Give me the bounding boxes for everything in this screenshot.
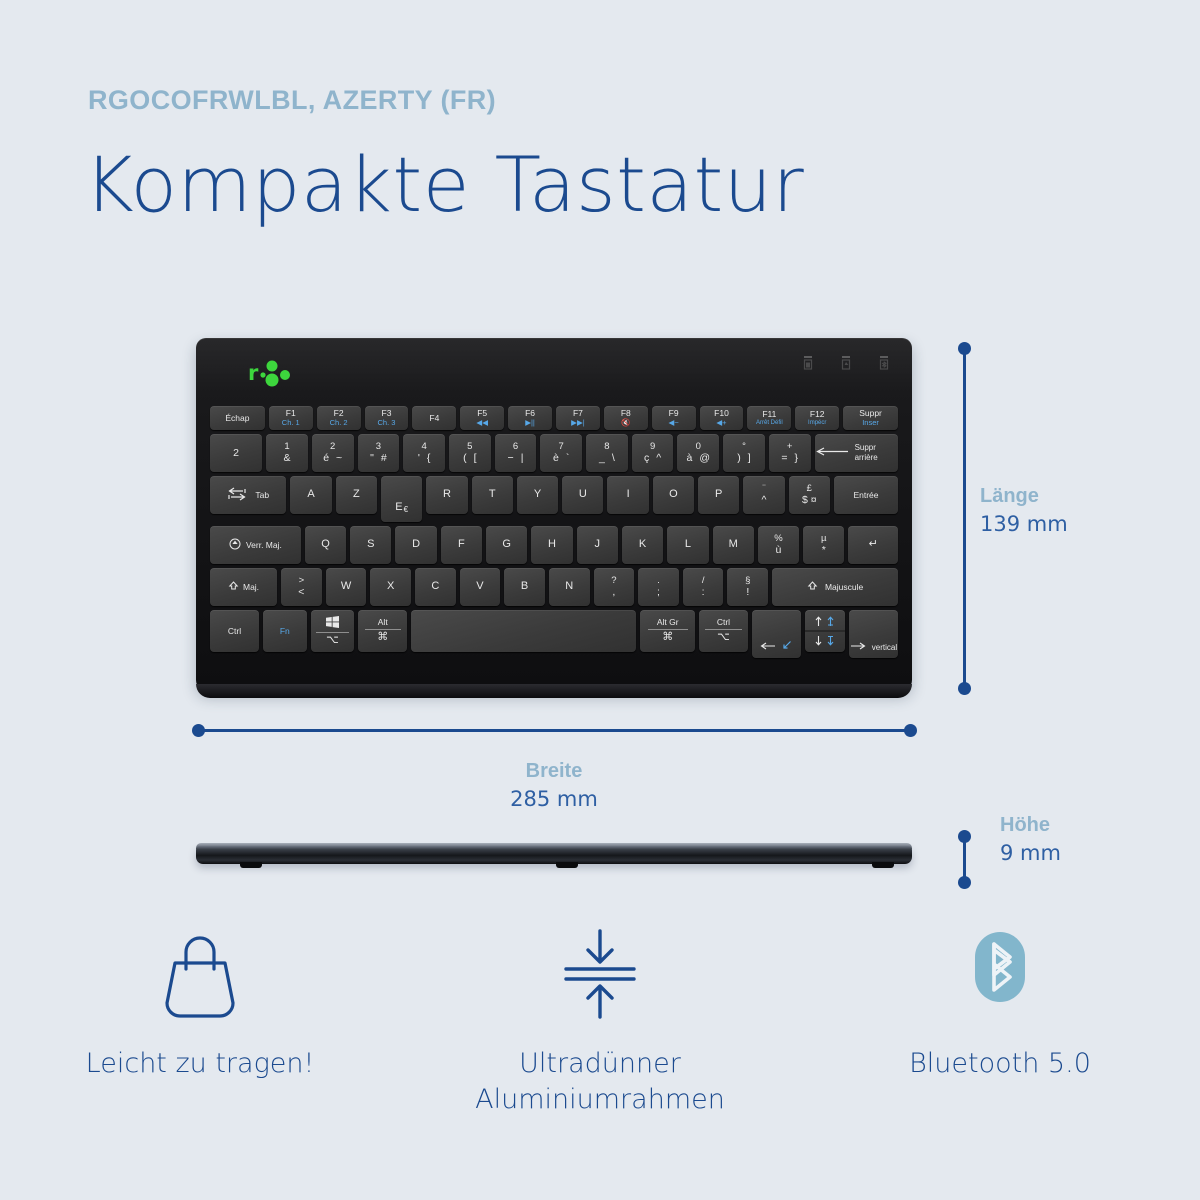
key-shift-right[interactable]: Majuscule <box>772 568 898 606</box>
status-indicator-group <box>802 356 890 372</box>
product-sku-subtitle: RGOCOFRWLBL, AZERTY (FR) <box>88 85 496 116</box>
key-7-egrave[interactable]: 7è` <box>540 434 582 472</box>
key-question-comma[interactable]: ?, <box>594 568 635 606</box>
end-key-label: vertical <box>872 644 897 652</box>
key-degree-closeparen[interactable]: °)] <box>723 434 765 472</box>
battery-indicator-icon <box>802 356 814 372</box>
key-z[interactable]: Z <box>336 476 377 514</box>
hoehe-dot-top <box>958 830 971 843</box>
side-view-foot-left <box>240 862 262 868</box>
option-icon: ⌥ <box>717 632 730 644</box>
space-bar[interactable] <box>411 610 636 652</box>
key-diaeresis-circumflex[interactable]: ¨^ <box>743 476 784 514</box>
feature-label: Ultradünner Aluminiumrahmen <box>475 1046 725 1119</box>
key-p[interactable]: P <box>698 476 739 514</box>
infographic-page: RGOCOFRWLBL, AZERTY (FR) Kompakte Tastat… <box>0 0 1200 1200</box>
home-row: Verr. Maj. Q S D F G H J K L M %ù µ* ↵ <box>210 526 898 564</box>
key-f7[interactable]: F7▶▶| <box>556 406 600 430</box>
key-f5[interactable]: F5◀◀ <box>460 406 504 430</box>
tab-row: Tab A Z E€ R T Y U I O P ¨^ £$ ¤ Entrée <box>210 476 898 522</box>
key-ctrl-right[interactable]: Ctrl ⌥ <box>699 610 748 652</box>
key-g[interactable]: G <box>486 526 527 564</box>
feature-bluetooth: Bluetooth 5.0 <box>800 918 1200 1119</box>
key-h[interactable]: H <box>531 526 572 564</box>
key-y[interactable]: Y <box>517 476 558 514</box>
key-a[interactable]: A <box>290 476 331 514</box>
laenge-line <box>963 348 966 688</box>
shift-row: Maj. >< W X C V B N ?, .; /: §! Majuscul… <box>210 568 898 606</box>
key-divider <box>316 632 348 633</box>
key-2-eacute[interactable]: 2é~ <box>312 434 354 472</box>
key-up-down-pageupdown[interactable] <box>805 610 845 652</box>
key-escape[interactable]: Échap <box>210 406 265 430</box>
hoehe-label: Höhe <box>1000 812 1200 839</box>
laenge-value: 139 mm <box>980 510 1180 538</box>
feature-label: Leicht zu tragen! <box>86 1046 315 1082</box>
laenge-label: Länge <box>980 483 1180 510</box>
key-l[interactable]: L <box>667 526 708 564</box>
key-1-ampersand[interactable]: 1& <box>266 434 308 472</box>
key-r[interactable]: R <box>426 476 467 514</box>
keyboard-top-view: r Échap F1Ch. 1 F2Ch. <box>196 338 912 692</box>
bluetooth-indicator-icon <box>878 356 890 372</box>
key-x[interactable]: X <box>370 568 411 606</box>
feature-label: Bluetooth 5.0 <box>909 1046 1091 1082</box>
key-delete-insert[interactable]: SupprInser <box>843 406 898 430</box>
key-mu-asterisk[interactable]: µ* <box>803 526 844 564</box>
key-m[interactable]: M <box>713 526 754 564</box>
shift-icon <box>228 580 239 593</box>
caps-lock-icon <box>229 538 241 552</box>
arrow-down-icon <box>815 632 834 649</box>
feature-portability: Leicht zu tragen! <box>0 918 400 1119</box>
key-f9[interactable]: F9◀− <box>652 406 696 430</box>
key-divider <box>365 629 401 630</box>
breite-line <box>198 729 910 732</box>
feature-list: Leicht zu tragen! Ultradünner Aluminiumr… <box>0 918 1200 1119</box>
key-u[interactable]: U <box>562 476 603 514</box>
breite-label: Breite <box>404 758 704 785</box>
key-j[interactable]: J <box>577 526 618 564</box>
key-left-home[interactable] <box>752 610 801 658</box>
bluetooth-icon <box>944 918 1056 1028</box>
breite-dot-left <box>192 724 205 737</box>
key-0-agrave[interactable]: 0à@ <box>677 434 719 472</box>
key-ctrl-left[interactable]: Ctrl <box>210 610 259 652</box>
rgo-logo-icon: r <box>248 356 300 390</box>
key-enter[interactable]: Entrée <box>834 476 898 514</box>
key-t[interactable]: T <box>472 476 513 514</box>
key-c[interactable]: C <box>415 568 456 606</box>
arrow-right-icon <box>850 642 866 652</box>
key-fn[interactable]: Fn <box>263 610 307 652</box>
keyboard-side-view <box>196 840 912 874</box>
side-view-body <box>196 846 912 864</box>
home-arrow-icon <box>782 640 792 652</box>
key-f4[interactable]: F4 <box>412 406 456 430</box>
key-windows-option[interactable]: ⌥ <box>311 610 355 652</box>
breite-value: 285 mm <box>404 785 704 813</box>
key-f2[interactable]: F2Ch. 2 <box>317 406 361 430</box>
key-s[interactable]: S <box>350 526 391 564</box>
key-pound-dollar[interactable]: £$ ¤ <box>789 476 830 514</box>
key-d[interactable]: D <box>395 526 436 564</box>
key-return[interactable]: ↵ <box>848 526 898 564</box>
key-q[interactable]: Q <box>305 526 346 564</box>
key-period-semicolon[interactable]: .; <box>638 568 679 606</box>
key-e-euro[interactable]: E€ <box>381 476 422 522</box>
key-3-quote[interactable]: 3"# <box>358 434 400 472</box>
key-caps-lock[interactable]: Verr. Maj. <box>210 526 301 564</box>
key-5-paren[interactable]: 5([ <box>449 434 491 472</box>
key-f8[interactable]: F8🔇 <box>604 406 648 430</box>
key-shift-left[interactable]: Maj. <box>210 568 277 606</box>
key-percent-ugrave[interactable]: %ù <box>758 526 799 564</box>
feature-thin-frame: Ultradünner Aluminiumrahmen <box>400 918 800 1119</box>
side-view-foot-mid <box>556 862 578 868</box>
key-alt-command[interactable]: Alt ⌘ <box>358 610 407 652</box>
backspace-arrow-icon <box>815 447 849 458</box>
bottom-row: Ctrl Fn ⌥ Alt ⌘ Alt Gr ⌘ <box>210 610 898 658</box>
key-right-end[interactable]: vertical <box>849 610 898 658</box>
key-tab[interactable]: Tab <box>210 476 286 514</box>
laenge-dot-bottom <box>958 682 971 695</box>
key-divider <box>705 629 741 630</box>
windows-icon <box>326 616 339 630</box>
hoehe-dot-bottom <box>958 876 971 889</box>
key-f10[interactable]: F10◀+ <box>700 406 744 430</box>
tote-bag-icon <box>144 918 256 1028</box>
laenge-dot-top <box>958 342 971 355</box>
key-backspace[interactable]: Suppr arrière <box>815 434 898 472</box>
option-icon: ⌥ <box>326 635 339 647</box>
key-divider <box>648 629 688 630</box>
shift-icon <box>807 580 818 593</box>
key-i[interactable]: I <box>607 476 648 514</box>
key-superscript-2[interactable]: 2 <box>210 434 262 472</box>
key-v[interactable]: V <box>460 568 501 606</box>
command-icon: ⌘ <box>662 632 673 644</box>
breite-dot-right <box>904 724 917 737</box>
thinness-arrows-icon <box>544 918 656 1028</box>
key-f6[interactable]: F6▶|| <box>508 406 552 430</box>
key-rows: Échap F1Ch. 1 F2Ch. 2 F3Ch. 3 F4 F5◀◀ F6… <box>210 406 898 662</box>
side-view-foot-right <box>872 862 894 868</box>
tab-icon <box>227 486 247 504</box>
function-row: Échap F1Ch. 1 F2Ch. 2 F3Ch. 3 F4 F5◀◀ F6… <box>210 406 898 430</box>
key-f3[interactable]: F3Ch. 3 <box>365 406 409 430</box>
caps-lock-indicator-icon <box>840 356 852 372</box>
key-plus-equals[interactable]: +=} <box>769 434 811 472</box>
command-icon: ⌘ <box>377 632 388 644</box>
key-6-dash[interactable]: 6−| <box>495 434 537 472</box>
arrow-left-icon <box>760 642 776 652</box>
page-title: Kompakte Tastatur <box>84 140 804 229</box>
key-w[interactable]: W <box>326 568 367 606</box>
key-f12[interactable]: F12Impécr <box>795 406 839 430</box>
key-n[interactable]: N <box>549 568 590 606</box>
key-o[interactable]: O <box>653 476 694 514</box>
key-alt-gr[interactable]: Alt Gr ⌘ <box>640 610 694 652</box>
keyboard-base-edge <box>196 684 912 698</box>
key-f[interactable]: F <box>441 526 482 564</box>
number-row: 2 1& 2é~ 3"# 4'{ 5([ 6−| 7è` 8_\ 9ç^ 0à@… <box>210 434 898 472</box>
svg-text:r: r <box>248 361 259 385</box>
key-greater-less[interactable]: >< <box>281 568 322 606</box>
arrow-up-icon <box>815 613 834 630</box>
key-slash-colon[interactable]: /: <box>683 568 724 606</box>
key-4-apostrophe[interactable]: 4'{ <box>403 434 445 472</box>
key-f1[interactable]: F1Ch. 1 <box>269 406 313 430</box>
key-section-exclamation[interactable]: §! <box>727 568 768 606</box>
hoehe-value: 9 mm <box>1000 839 1200 867</box>
key-f11[interactable]: F11Arrêt Défil <box>747 406 791 430</box>
key-9-ccedil[interactable]: 9ç^ <box>632 434 674 472</box>
key-k[interactable]: K <box>622 526 663 564</box>
key-b[interactable]: B <box>504 568 545 606</box>
key-8-underscore[interactable]: 8_\ <box>586 434 628 472</box>
